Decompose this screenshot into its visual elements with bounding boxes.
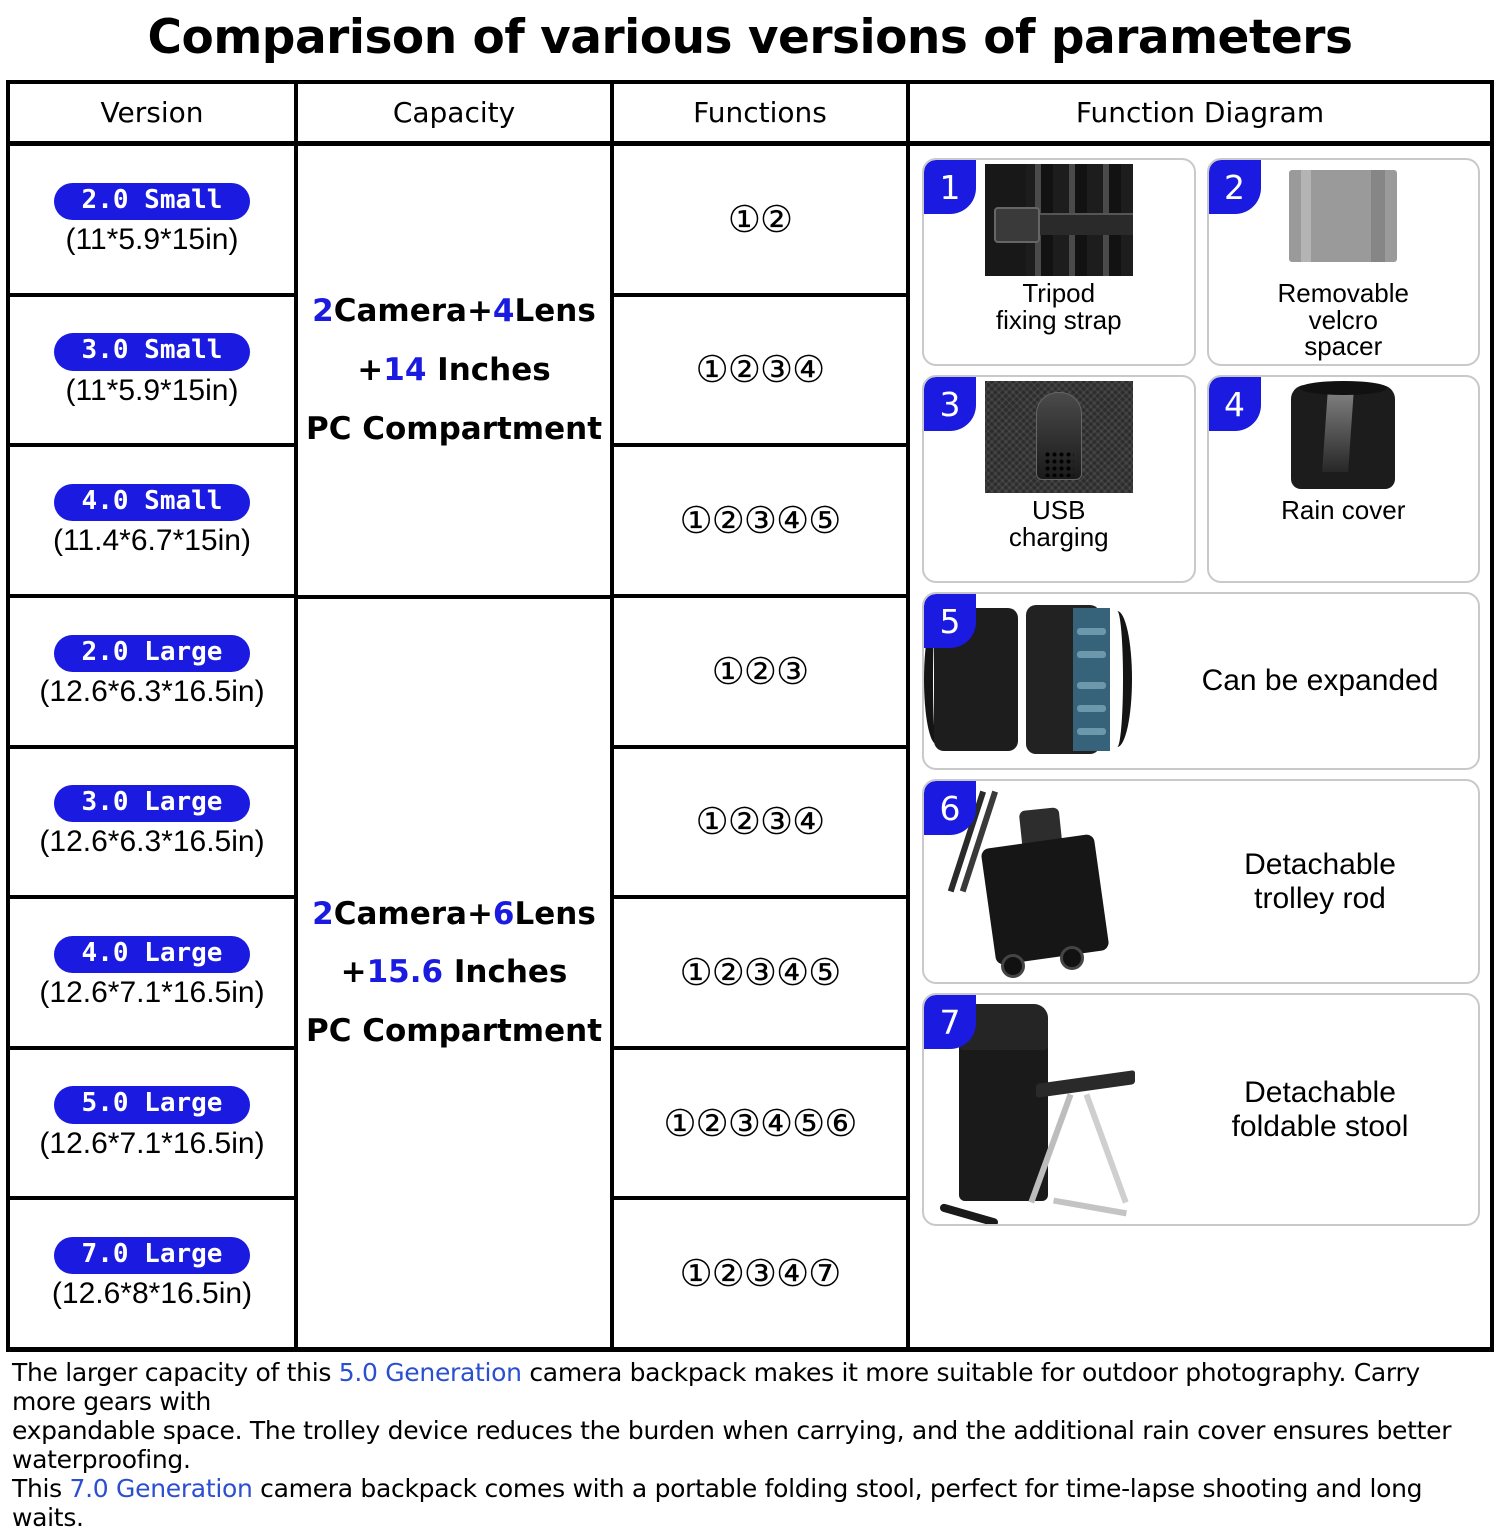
- version-badge: 4.0 Small: [54, 484, 251, 521]
- diagram-card-4: 4 Rain cover: [1207, 375, 1481, 583]
- capacity-lens-count: 4: [493, 293, 515, 329]
- rain-cover-icon: [1269, 381, 1417, 493]
- diagram-card-2: 2 Removable velcro spacer: [1207, 158, 1481, 366]
- version-dimensions: (11.4*6.7*15in): [53, 524, 251, 557]
- column-header-function-diagram: Function Diagram: [910, 84, 1490, 141]
- capacity-column: 2Camera+4Lens +14 Inches PC Compartment …: [298, 146, 614, 1347]
- capacity-lens-word: Lens: [515, 896, 596, 932]
- velcro-spacer-icon: [1269, 164, 1417, 276]
- table-row: 7.0 Large (12.6*8*16.5in): [10, 1200, 294, 1347]
- capacity-camera-count: 2: [312, 896, 334, 932]
- column-header-capacity: Capacity: [298, 84, 614, 141]
- functions-column: ①② ①②③④ ①②③④⑤ ①②③ ①②③④ ①②③④⑤ ①②③④⑤⑥ ①②③④…: [614, 146, 910, 1347]
- version-column: 2.0 Small (11*5.9*15in) 3.0 Small (11*5.…: [10, 146, 298, 1347]
- version-badge: 3.0 Small: [54, 333, 251, 370]
- capacity-cell-small: 2Camera+4Lens +14 Inches PC Compartment: [298, 146, 610, 599]
- capacity-line-1: 2Camera+4Lens: [306, 282, 602, 341]
- capacity-lens-count: 6: [493, 896, 515, 932]
- tripod-strap-icon: [985, 164, 1133, 276]
- function-list: ①②③④: [696, 803, 825, 840]
- version-badge: 2.0 Large: [54, 635, 251, 672]
- capacity-line-2: +15.6 Inches: [306, 943, 602, 1002]
- label-line-1: USB: [1009, 497, 1109, 524]
- capacity-inches-value: 15.6: [367, 954, 444, 990]
- diagram-card-6: 6 Detachable trolley rod: [922, 779, 1480, 984]
- function-list: ①②③④: [696, 351, 825, 388]
- column-header-functions: Functions: [614, 84, 910, 141]
- usb-charging-icon: [985, 381, 1133, 493]
- version-dimensions: (11*5.9*15in): [66, 223, 239, 256]
- function-list: ①②③④⑤: [680, 954, 841, 991]
- version-badge: 3.0 Large: [54, 785, 251, 822]
- label-line-1: Rain cover: [1281, 497, 1405, 524]
- capacity-line-3: PC Compartment: [306, 1002, 602, 1061]
- function-list: ①②: [728, 201, 792, 238]
- card-number-badge: 4: [1209, 377, 1261, 431]
- functions-cell: ①②③④⑤: [614, 447, 906, 598]
- version-badge: 4.0 Large: [54, 936, 251, 973]
- version-dimensions: (12.6*7.1*16.5in): [39, 976, 264, 1009]
- diagram-card-1: 1 Tripod fixing strap: [922, 158, 1196, 366]
- label-line-1: Tripod: [996, 280, 1122, 307]
- capacity-inches-word: Inches: [443, 954, 567, 990]
- diagram-card-label: Can be expanded: [1172, 664, 1478, 698]
- diagram-card-label: Tripod fixing strap: [996, 280, 1122, 333]
- comparison-table: Version Capacity Functions Function Diag…: [6, 80, 1494, 1352]
- capacity-inches-value: 14: [383, 352, 426, 388]
- version-dimensions: (12.6*6.3*16.5in): [39, 825, 264, 858]
- diagram-card-5: 5 Can be expanded: [922, 592, 1480, 770]
- label-line-2: foldable stool: [1172, 1110, 1468, 1144]
- table-row: 3.0 Large (12.6*6.3*16.5in): [10, 749, 294, 900]
- table-row: 2.0 Small (11*5.9*15in): [10, 146, 294, 297]
- diagram-card-label: Detachable foldable stool: [1172, 1076, 1478, 1143]
- label-line-2: trolley rod: [1172, 882, 1468, 916]
- diagram-card-label: Removable velcro spacer: [1277, 280, 1409, 360]
- capacity-line-1: 2Camera+6Lens: [306, 885, 602, 944]
- version-badge: 7.0 Large: [54, 1237, 251, 1274]
- capacity-camera-word: Camera+: [334, 896, 493, 932]
- footer-generation-5: 5.0 Generation: [339, 1358, 522, 1387]
- function-list: ①②③: [712, 653, 809, 690]
- version-badge: 5.0 Large: [54, 1086, 251, 1123]
- diagram-card-label: Rain cover: [1281, 497, 1405, 524]
- capacity-line-2: +14 Inches: [306, 341, 602, 400]
- version-dimensions: (12.6*7.1*16.5in): [39, 1127, 264, 1160]
- diagram-row-1: 1 Tripod fixing strap 2: [922, 158, 1480, 366]
- card-number-badge: 3: [924, 377, 976, 431]
- label-line-2: fixing strap: [996, 307, 1122, 334]
- table-row: 3.0 Small (11*5.9*15in): [10, 297, 294, 448]
- footer-generation-7: 7.0 Generation: [70, 1474, 253, 1503]
- capacity-line-3: PC Compartment: [306, 400, 602, 459]
- card-number-badge: 6: [924, 781, 976, 835]
- table-body: 2.0 Small (11*5.9*15in) 3.0 Small (11*5.…: [10, 146, 1490, 1347]
- label-line-1: Removable: [1277, 280, 1409, 307]
- functions-cell: ①②③④⑤: [614, 899, 906, 1050]
- capacity-inches-word: Inches: [426, 352, 550, 388]
- footer-description: The larger capacity of this 5.0 Generati…: [12, 1358, 1488, 1532]
- functions-cell: ①②③: [614, 598, 906, 749]
- footer-line-1: The larger capacity of this 5.0 Generati…: [12, 1358, 1488, 1416]
- function-list: ①②③④⑤: [680, 502, 841, 539]
- capacity-plus: +: [357, 352, 383, 388]
- label-line-1: Detachable: [1172, 1076, 1468, 1110]
- diagram-card-7: 7 Detachable foldable stool: [922, 993, 1480, 1226]
- functions-cell: ①②③④: [614, 297, 906, 448]
- label-line-2: charging: [1009, 524, 1109, 551]
- label-line-3: spacer: [1277, 333, 1409, 360]
- functions-cell: ①②③④⑦: [614, 1200, 906, 1347]
- page-title: Comparison of various versions of parame…: [0, 0, 1500, 80]
- card-number-badge: 2: [1209, 160, 1261, 214]
- footer-line-2: expandable space. The trolley device red…: [12, 1416, 1488, 1474]
- diagram-row-2: 3 USB charging 4: [922, 375, 1480, 583]
- functions-cell: ①②③④⑤⑥: [614, 1050, 906, 1201]
- footer-text: The larger capacity of this: [12, 1358, 339, 1387]
- card-number-badge: 5: [924, 594, 976, 648]
- card-number-badge: 7: [924, 995, 976, 1049]
- capacity-camera-word: Camera+: [334, 293, 493, 329]
- label-line-1: Can be expanded: [1172, 664, 1468, 698]
- footer-text: This: [12, 1474, 70, 1503]
- capacity-cell-large: 2Camera+6Lens +15.6 Inches PC Compartmen…: [298, 599, 610, 1347]
- diagram-card-label: Detachable trolley rod: [1172, 848, 1478, 915]
- table-row: 2.0 Large (12.6*6.3*16.5in): [10, 598, 294, 749]
- capacity-camera-count: 2: [312, 293, 334, 329]
- functions-cell: ①②③④: [614, 749, 906, 900]
- table-row: 4.0 Large (12.6*7.1*16.5in): [10, 899, 294, 1050]
- function-list: ①②③④⑤⑥: [663, 1105, 856, 1142]
- capacity-lens-word: Lens: [515, 293, 596, 329]
- function-list: ①②③④⑦: [680, 1255, 841, 1292]
- functions-cell: ①②: [614, 146, 906, 297]
- label-line-1: Detachable: [1172, 848, 1468, 882]
- table-row: 5.0 Large (12.6*7.1*16.5in): [10, 1050, 294, 1201]
- version-badge: 2.0 Small: [54, 183, 251, 220]
- version-dimensions: (12.6*6.3*16.5in): [39, 675, 264, 708]
- card-number-badge: 1: [924, 160, 976, 214]
- function-diagram-column: 1 Tripod fixing strap 2: [910, 146, 1490, 1347]
- diagram-card-label: USB charging: [1009, 497, 1109, 550]
- table-header-row: Version Capacity Functions Function Diag…: [10, 84, 1490, 146]
- footer-line-3: This 7.0 Generation camera backpack come…: [12, 1474, 1488, 1532]
- version-dimensions: (12.6*8*16.5in): [52, 1277, 252, 1310]
- table-row: 4.0 Small (11.4*6.7*15in): [10, 447, 294, 598]
- label-line-2: velcro: [1277, 307, 1409, 334]
- version-dimensions: (11*5.9*15in): [66, 374, 239, 407]
- diagram-card-3: 3 USB charging: [922, 375, 1196, 583]
- capacity-plus: +: [341, 954, 367, 990]
- column-header-version: Version: [10, 84, 298, 141]
